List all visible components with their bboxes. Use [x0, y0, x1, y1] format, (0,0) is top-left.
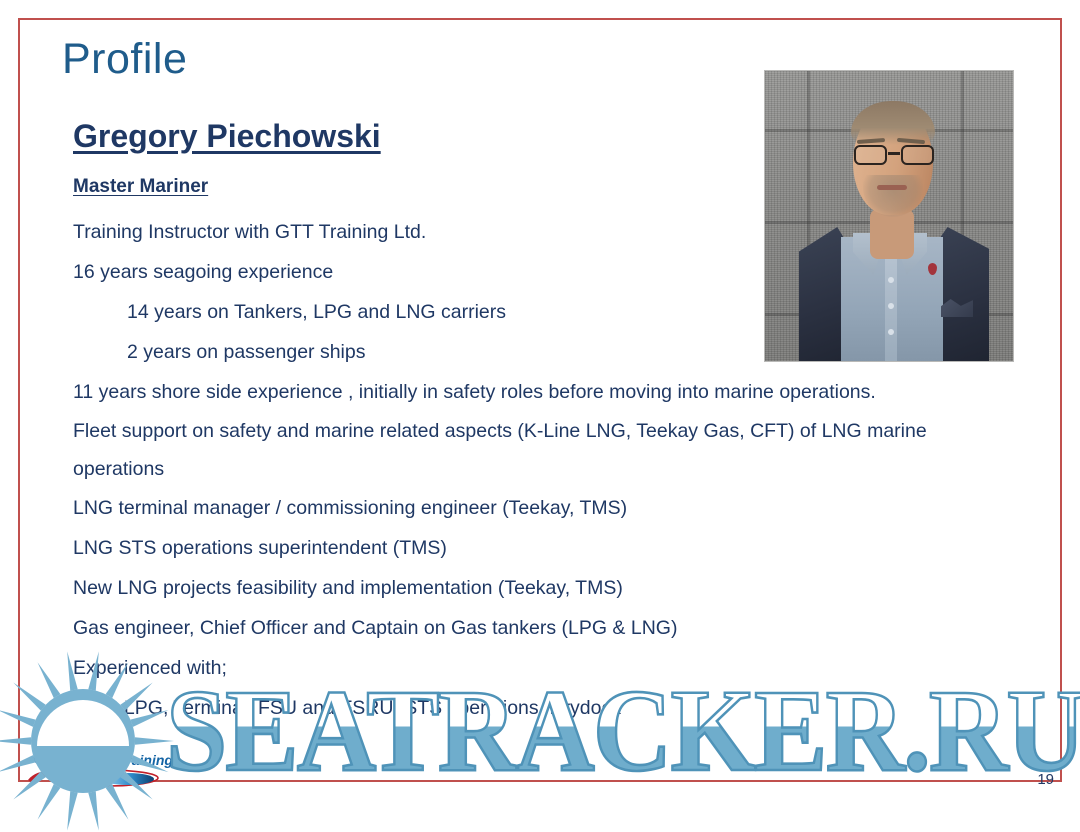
- portrait-photo: [764, 70, 1014, 362]
- presentation-slide: Profile Gregory Piechowski Master Marine…: [0, 0, 1080, 810]
- glasses-lens-right: [901, 145, 934, 165]
- profile-body-line: New LNG projects feasibility and impleme…: [73, 568, 1023, 608]
- profile-body-line: LNG, LPG, Terminal, FSU and FSRU, STS op…: [73, 688, 1023, 728]
- eyeglasses-icon: [853, 145, 935, 165]
- profile-body-line: Experienced with;: [73, 648, 1023, 688]
- shirt-button: [888, 329, 894, 335]
- logo-swoosh-icon: [22, 766, 182, 788]
- shirt-button: [888, 277, 894, 283]
- mouth: [877, 185, 907, 190]
- page-title: Profile: [62, 36, 187, 83]
- glasses-lens-left: [854, 145, 887, 165]
- person-role: Master Mariner: [73, 176, 208, 198]
- profile-body-line: LNG terminal manager / commissioning eng…: [73, 488, 1023, 528]
- profile-body-line: LNG STS operations superintendent (TMS): [73, 528, 1023, 568]
- profile-body-line: Fleet support on safety and marine relat…: [73, 412, 1018, 488]
- gtt-training-logo: GTT Training: [22, 736, 182, 788]
- person-name: Gregory Piechowski: [73, 118, 381, 155]
- shirt-button: [888, 303, 894, 309]
- profile-body-line: Gas engineer, Chief Officer and Captain …: [73, 608, 1023, 648]
- page-number: 19: [1037, 771, 1054, 788]
- profile-body-line: 11 years shore side experience , initial…: [73, 372, 1023, 412]
- glasses-bridge: [888, 152, 900, 155]
